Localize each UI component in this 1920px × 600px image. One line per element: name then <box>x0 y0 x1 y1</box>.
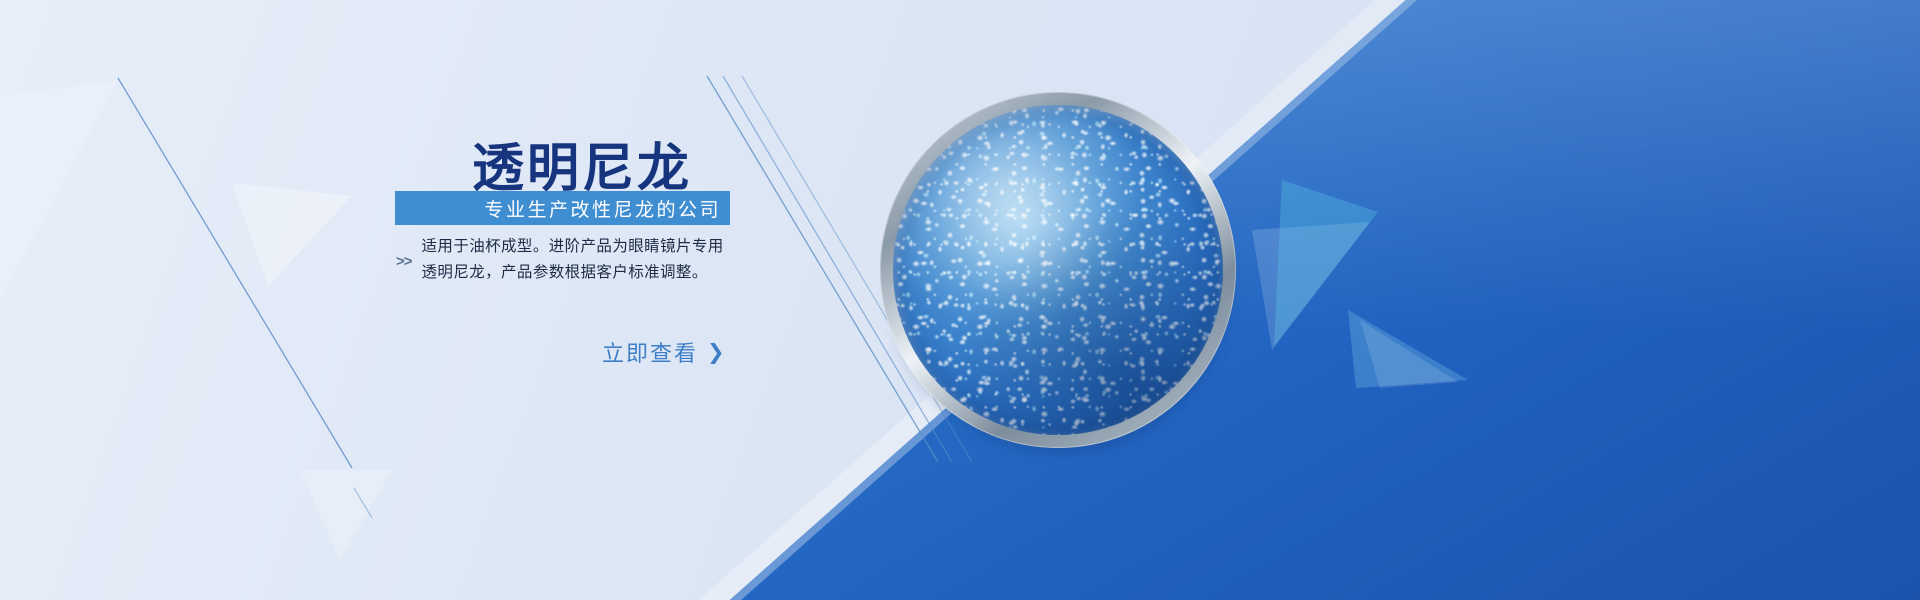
view-now-label: 立即查看 <box>602 336 698 368</box>
view-now-button[interactable]: 立即查看 ❯ <box>602 336 725 368</box>
page-title: 透明尼龙 <box>472 126 692 201</box>
description-line-1: 适用于油杯成型。进阶产品为眼睛镜片专用 <box>422 234 724 260</box>
tagline-ribbon: 专业生产改性尼龙的公司 <box>395 191 730 225</box>
tagline-text: 专业生产改性尼龙的公司 <box>484 195 721 222</box>
banner-content: 透明尼龙 专业生产改性尼龙的公司 >> 适用于油杯成型。进阶产品为眼睛镜片专用 … <box>0 0 820 600</box>
product-hero-banner: 透明尼龙 专业生产改性尼龙的公司 >> 适用于油杯成型。进阶产品为眼睛镜片专用 … <box>0 0 1920 600</box>
description-block: >> 适用于油杯成型。进阶产品为眼睛镜片专用 透明尼龙，产品参数根据客户标准调整… <box>396 234 724 286</box>
double-chevron-icon: >> <box>396 254 412 269</box>
description-line-2: 透明尼龙，产品参数根据客户标准调整。 <box>422 260 724 286</box>
chevron-right-icon: ❯ <box>707 342 725 363</box>
description-lines: 适用于油杯成型。进阶产品为眼睛镜片专用 透明尼龙，产品参数根据客户标准调整。 <box>422 234 724 286</box>
